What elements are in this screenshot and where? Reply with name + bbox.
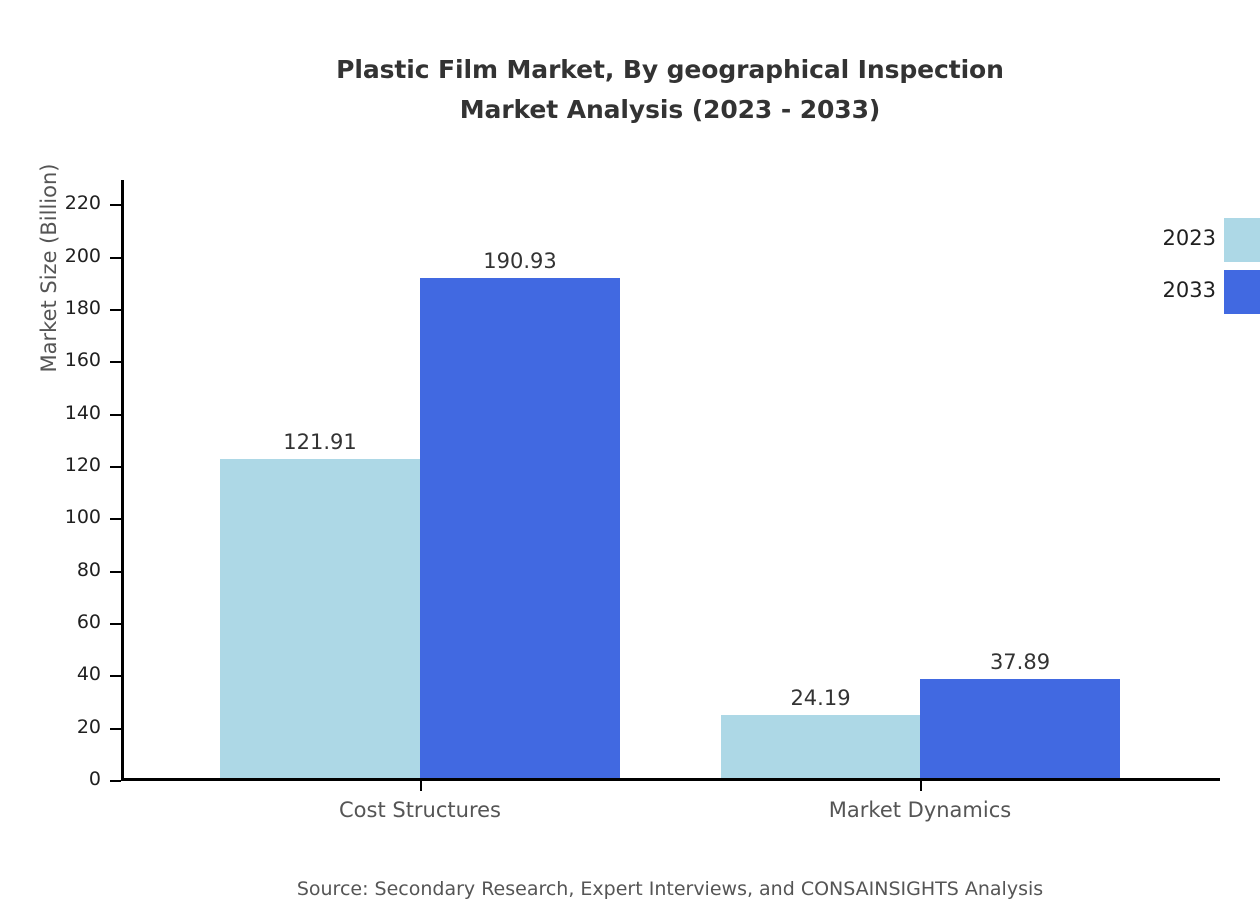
y-axis-tick-label: 100 <box>1 506 101 528</box>
bar[interactable] <box>920 679 1120 778</box>
legend-item[interactable]: 2033 <box>1130 270 1260 314</box>
x-axis-line <box>121 778 1220 781</box>
y-axis-tick-label: 20 <box>1 716 101 738</box>
bar[interactable] <box>721 715 920 778</box>
y-axis-tick-label: 60 <box>1 611 101 633</box>
y-axis-tick <box>110 309 121 311</box>
y-axis-tick <box>110 780 121 782</box>
x-axis-tick <box>420 781 422 791</box>
legend-item-label: 2033 <box>1130 278 1216 302</box>
y-axis-tick <box>110 675 121 677</box>
y-axis-tick <box>110 571 121 573</box>
y-axis-line <box>121 180 124 781</box>
x-axis-tick <box>920 781 922 791</box>
y-axis-title: Market Size (Billion) <box>37 118 61 418</box>
y-axis-tick-label: 120 <box>1 454 101 476</box>
y-axis-tick <box>110 204 121 206</box>
y-axis-tick-label: 40 <box>1 663 101 685</box>
bar[interactable] <box>220 459 420 778</box>
chart-title: Plastic Film Market, By geographical Ins… <box>0 50 1260 130</box>
y-axis-tick <box>110 728 121 730</box>
legend-color-swatch <box>1224 218 1260 262</box>
chart-legend: 20232033 <box>1130 218 1260 314</box>
bar[interactable] <box>420 278 620 778</box>
chart-title-line-2: Market Analysis (2023 - 2033) <box>0 90 1260 130</box>
y-axis-tick <box>110 414 121 416</box>
bar-value-label: 24.19 <box>721 686 920 710</box>
y-axis-tick <box>110 257 121 259</box>
bar-value-label: 121.91 <box>220 430 420 454</box>
y-axis-tick-label: 80 <box>1 559 101 581</box>
y-axis-tick <box>110 623 121 625</box>
plot-area: 121.91190.9324.1937.89 Cost StructuresMa… <box>121 180 1220 781</box>
x-axis-category-label: Market Dynamics <box>720 798 1120 822</box>
x-axis-category-label: Cost Structures <box>220 798 620 822</box>
legend-item[interactable]: 2023 <box>1130 218 1260 262</box>
source-note: Source: Secondary Research, Expert Inter… <box>0 878 1260 900</box>
bar-value-label: 37.89 <box>920 650 1120 674</box>
bar-value-label: 190.93 <box>420 249 620 273</box>
y-axis-tick <box>110 518 121 520</box>
y-axis-tick <box>110 361 121 363</box>
y-axis-tick-label: 0 <box>1 768 101 790</box>
chart-title-line-1: Plastic Film Market, By geographical Ins… <box>0 50 1260 90</box>
legend-item-label: 2023 <box>1130 226 1216 250</box>
legend-color-swatch <box>1224 270 1260 314</box>
y-axis-tick <box>110 466 121 468</box>
bar-chart: Plastic Film Market, By geographical Ins… <box>0 0 1260 920</box>
